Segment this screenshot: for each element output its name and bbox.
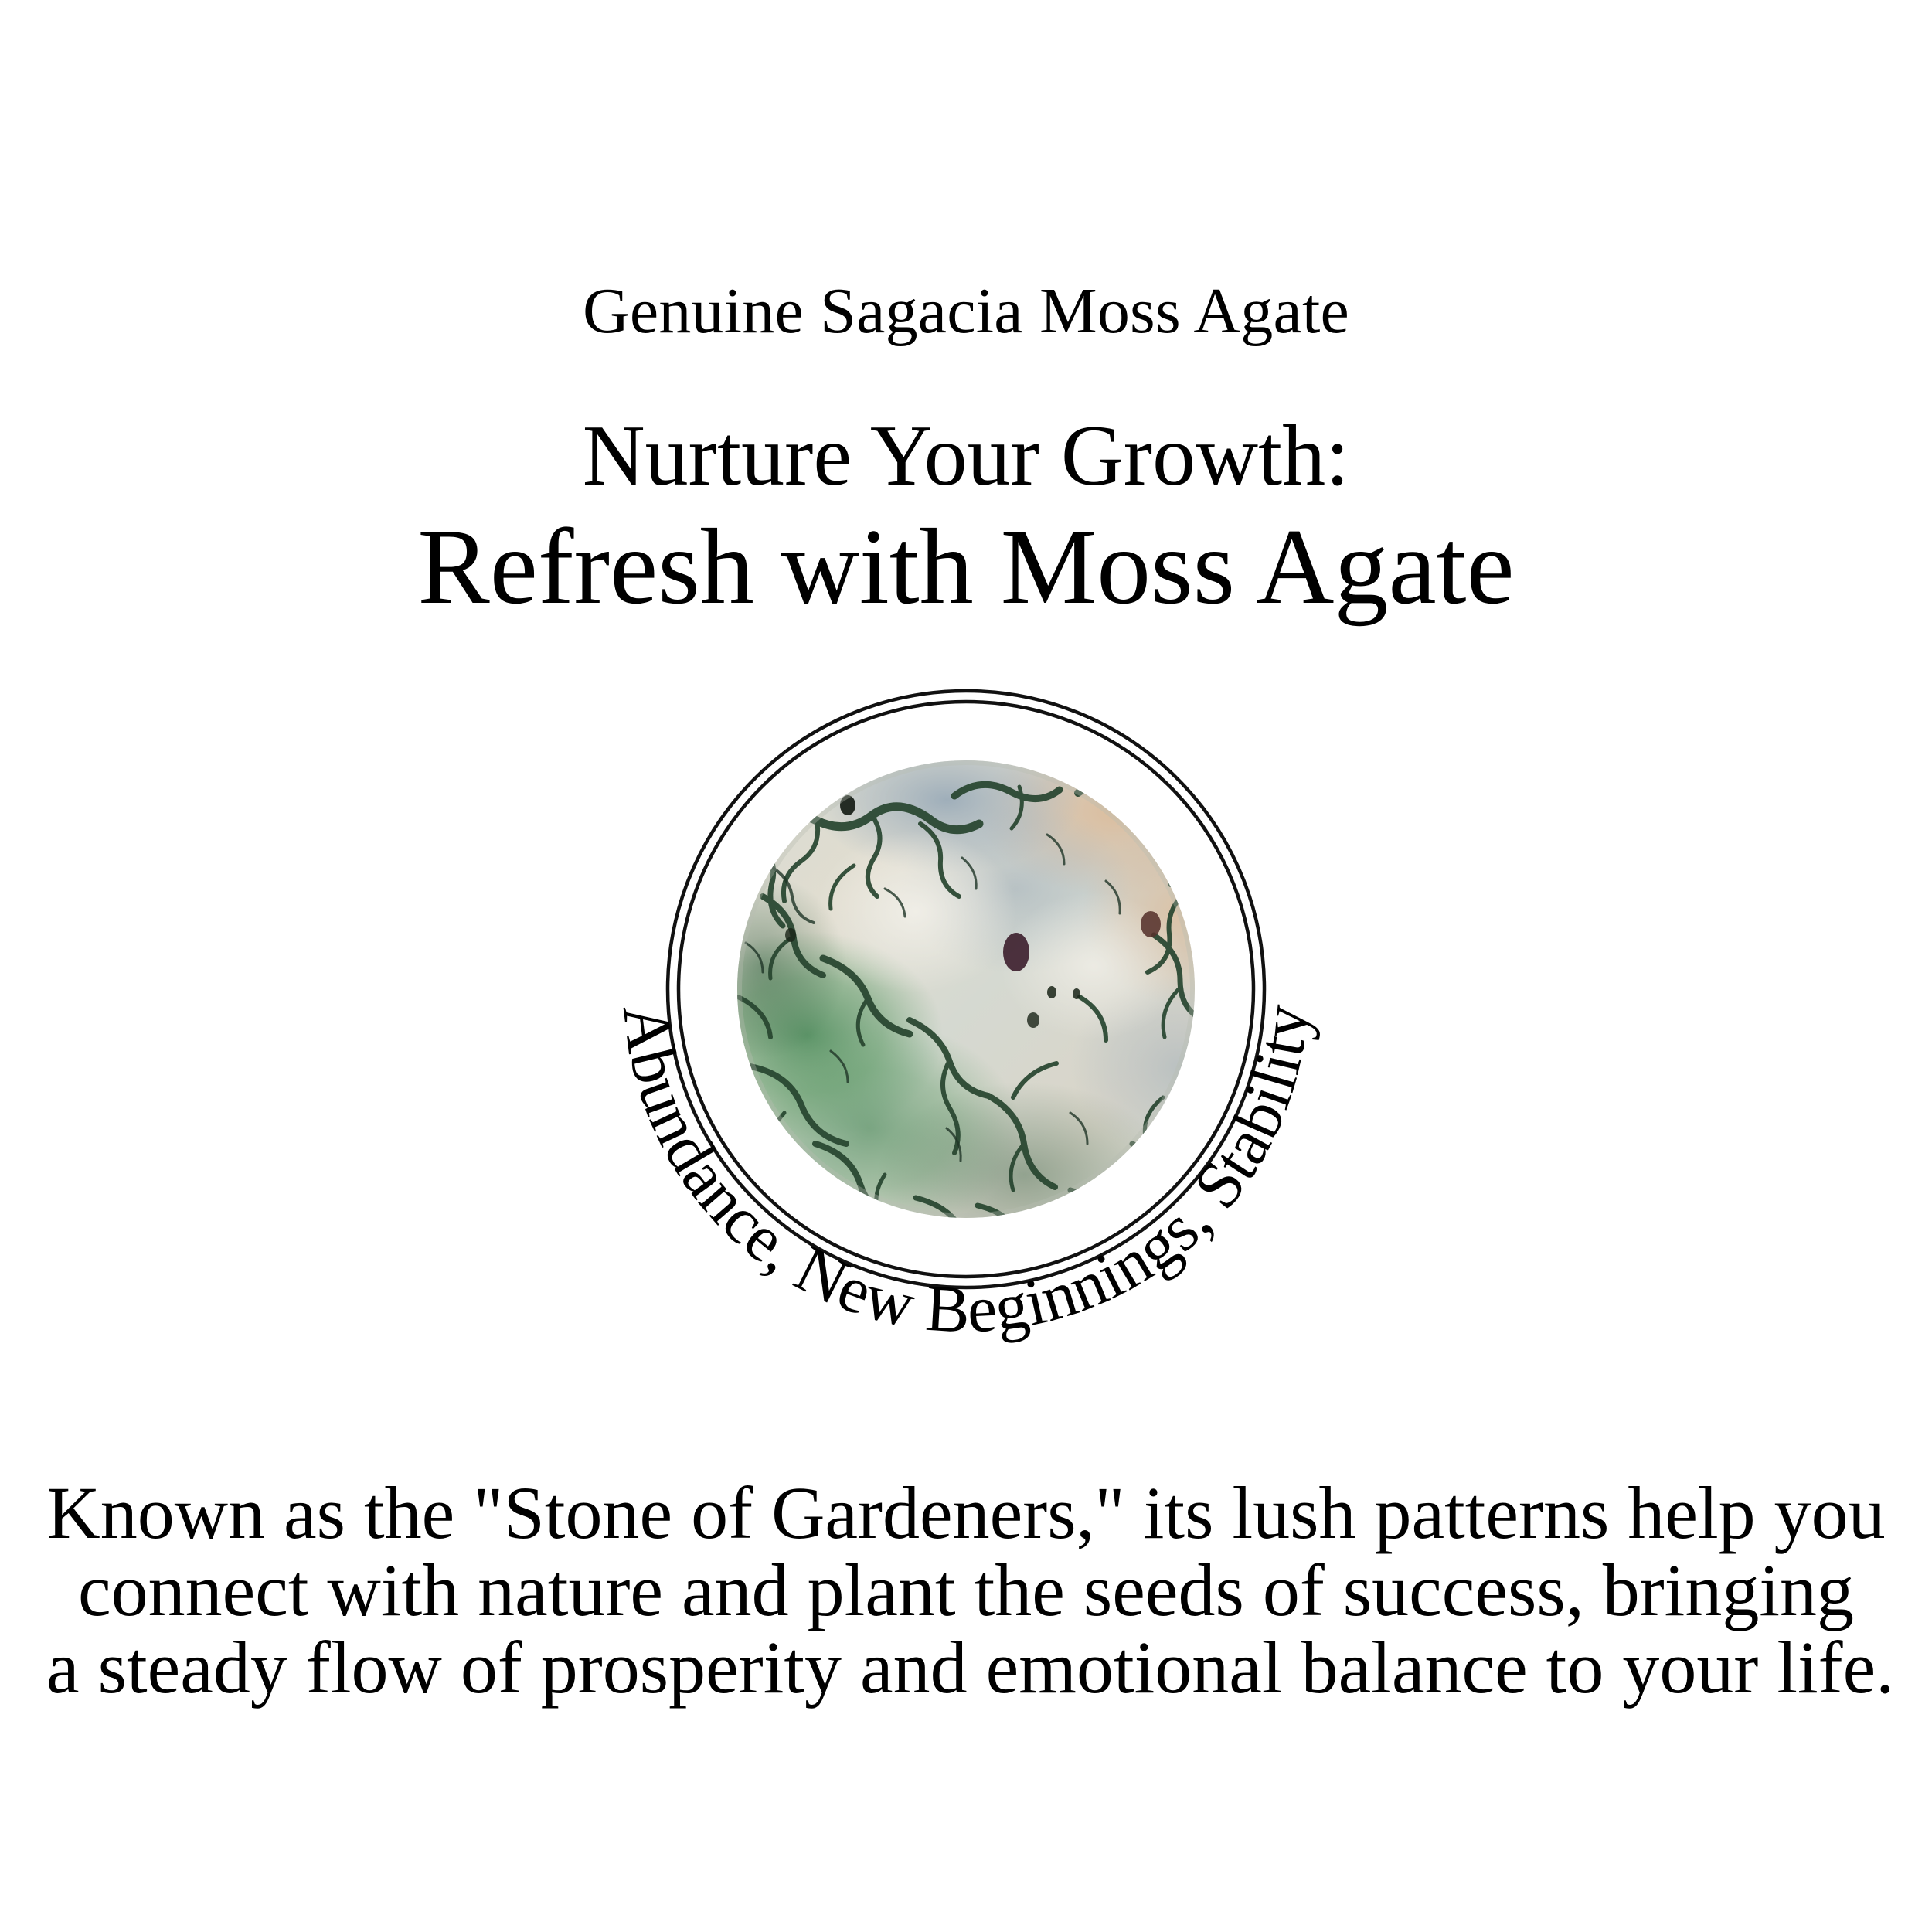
headline-line-1: Nurture Your Growth:: [0, 410, 1932, 503]
headline-line-2: Refresh with Moss Agate: [0, 508, 1932, 627]
stone-badge: Abundance, New Beginnings, Stability: [483, 634, 1449, 1430]
product-card: Genuine Sagacia Moss Agate Nurture Your …: [0, 0, 1932, 1932]
description-line-3: a steady flow of prosperity and emotiona…: [46, 1629, 1886, 1706]
description-paragraph: Known as the "Stone of Gardeners," its l…: [46, 1475, 1886, 1706]
badge-svg: Abundance, New Beginnings, Stability: [483, 634, 1449, 1430]
headline-block: Nurture Your Growth: Refresh with Moss A…: [0, 410, 1932, 627]
brand-eyebrow: Genuine Sagacia Moss Agate: [0, 277, 1932, 345]
description-line-1: Known as the "Stone of Gardeners," its l…: [46, 1475, 1886, 1552]
description-line-2: connect with nature and plant the seeds …: [46, 1552, 1886, 1629]
